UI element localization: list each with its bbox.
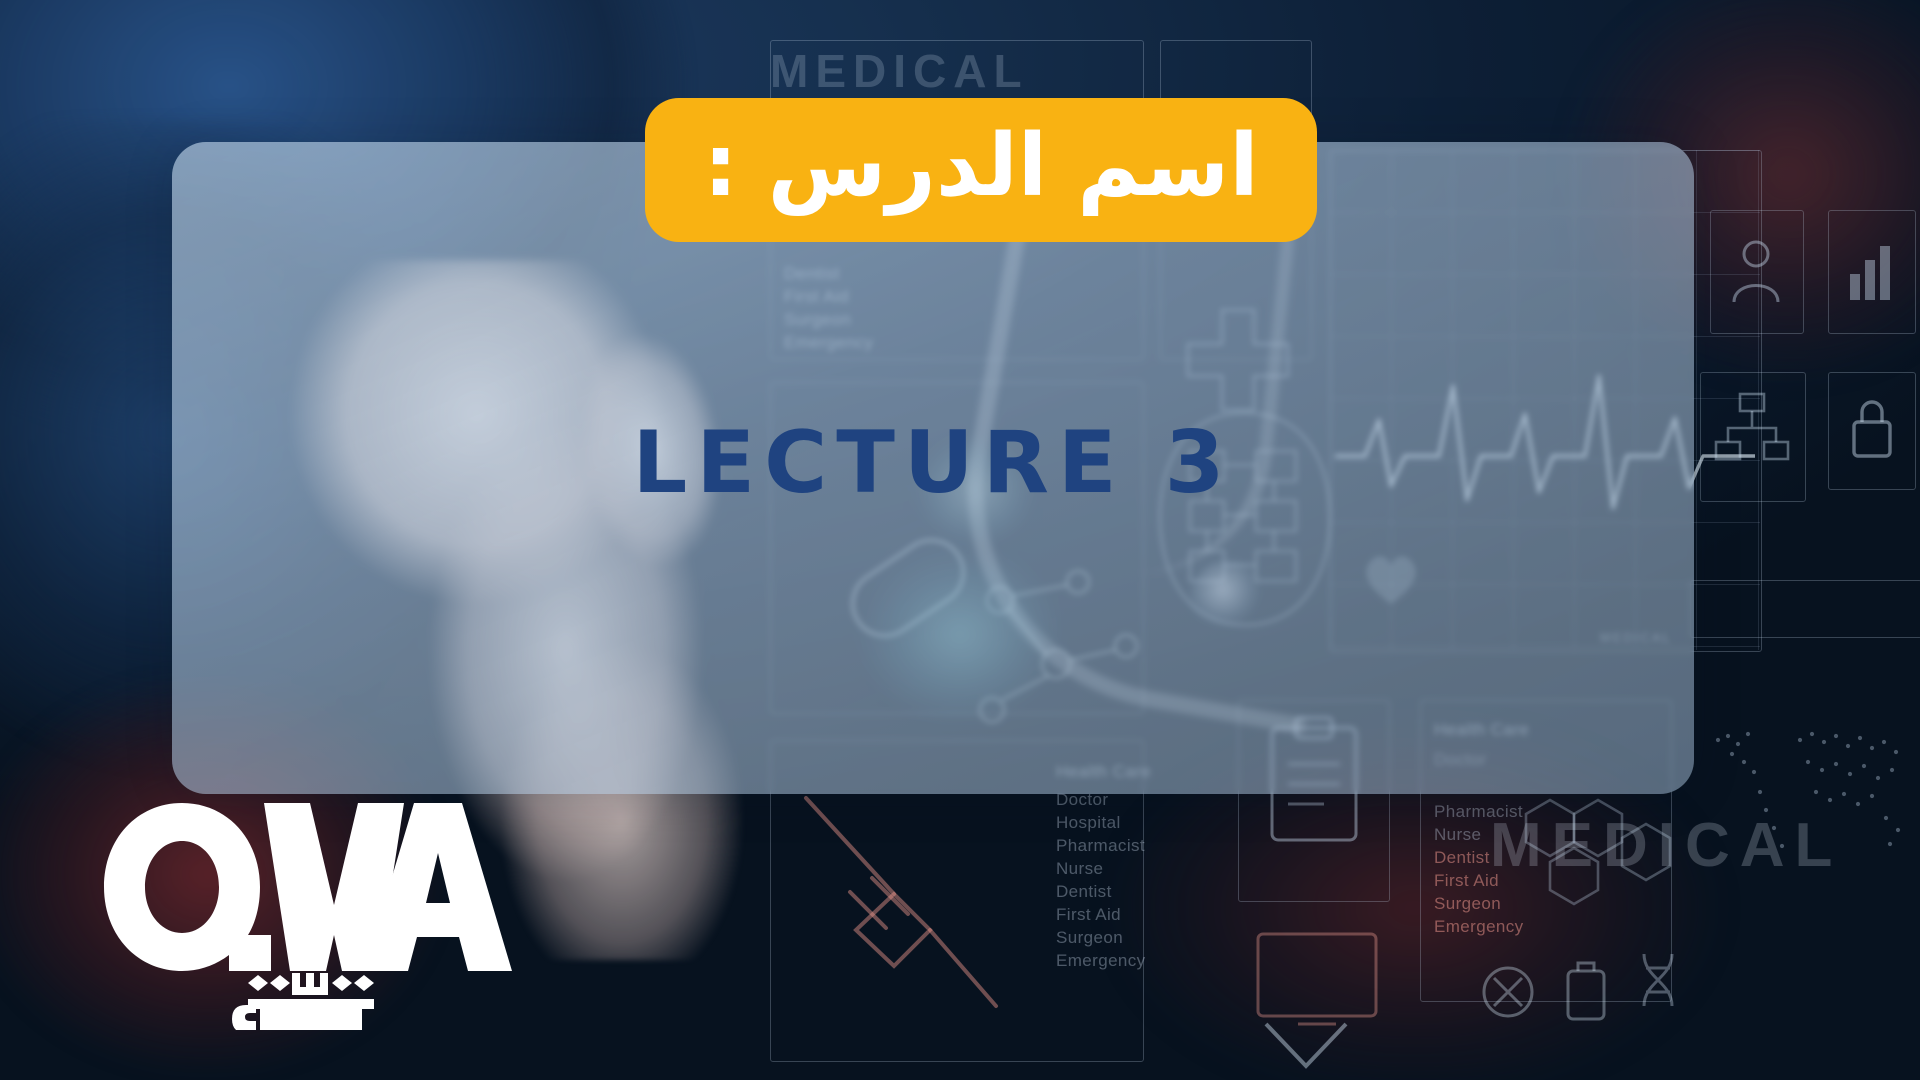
slide-canvas: MEDICAL Dentist First Aid Surgeon Emerge…: [0, 0, 1920, 1080]
lecture-title: LECTURE 3: [172, 420, 1694, 506]
qma-logo: [96, 795, 516, 1030]
lesson-name-banner-label: اسم الدرس :: [703, 123, 1258, 209]
lesson-name-banner: اسم الدرس :: [645, 98, 1317, 242]
